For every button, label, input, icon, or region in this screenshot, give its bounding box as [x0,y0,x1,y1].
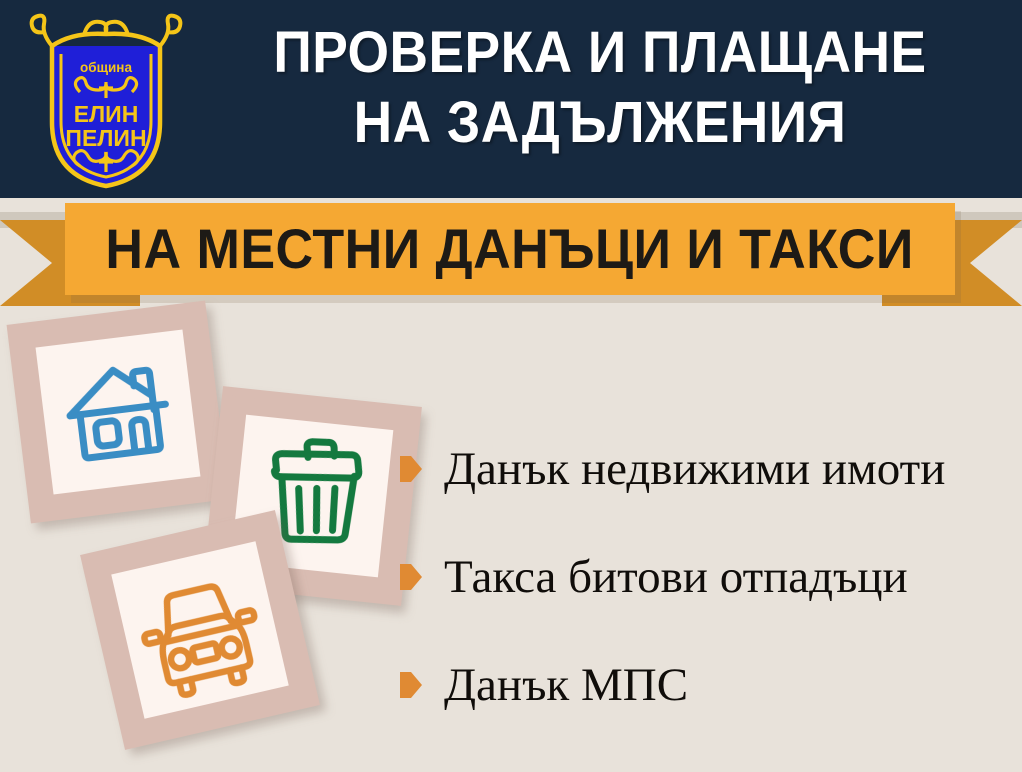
ribbon-label: НА МЕСТНИ ДАНЪЦИ И ТАКСИ [106,220,914,278]
list-item[interactable]: Данък МПС [400,631,1010,739]
bullet-arrow-icon [400,456,422,482]
crest-name-line2: ПЕЛИН [65,125,146,151]
list-item-label: Данък недвижими имоти [444,443,945,495]
crest-top-word: община [80,60,132,75]
header-banner: община ЕЛИН ПЕЛИН [0,0,1022,198]
stamp-card-house [7,301,230,524]
crest-name-line1: ЕЛИН [74,101,139,127]
page-title-line-2: НА ЗАДЪЛЖЕНИЯ [223,88,977,158]
subtitle-ribbon: НА МЕСТНИ ДАНЪЦИ И ТАКСИ [0,198,1022,310]
bullet-arrow-icon [400,672,422,698]
ribbon-band: НА МЕСТНИ ДАНЪЦИ И ТАКСИ [65,203,955,295]
coat-of-arms: община ЕЛИН ПЕЛИН [22,4,190,194]
bullet-arrow-icon [400,564,422,590]
list-item[interactable]: Такса битови отпадъци [400,523,1010,631]
stamp-card-group [0,300,420,772]
list-item-label: Такса битови отпадъци [444,551,908,603]
stamp-house-svg [7,301,230,524]
page-title: ПРОВЕРКА И ПЛАЩАНЕ НА ЗАДЪЛЖЕНИЯ [223,18,977,158]
tax-type-list: Данък недвижими имоти Такса битови отпад… [400,415,1010,739]
list-item-label: Данък МПС [444,659,688,711]
poster-canvas: община ЕЛИН ПЕЛИН [0,0,1022,772]
coat-of-arms-svg: община ЕЛИН ПЕЛИН [22,4,190,194]
list-item[interactable]: Данък недвижими имоти [400,415,1010,523]
page-title-line-1: ПРОВЕРКА И ПЛАЩАНЕ [223,18,977,88]
